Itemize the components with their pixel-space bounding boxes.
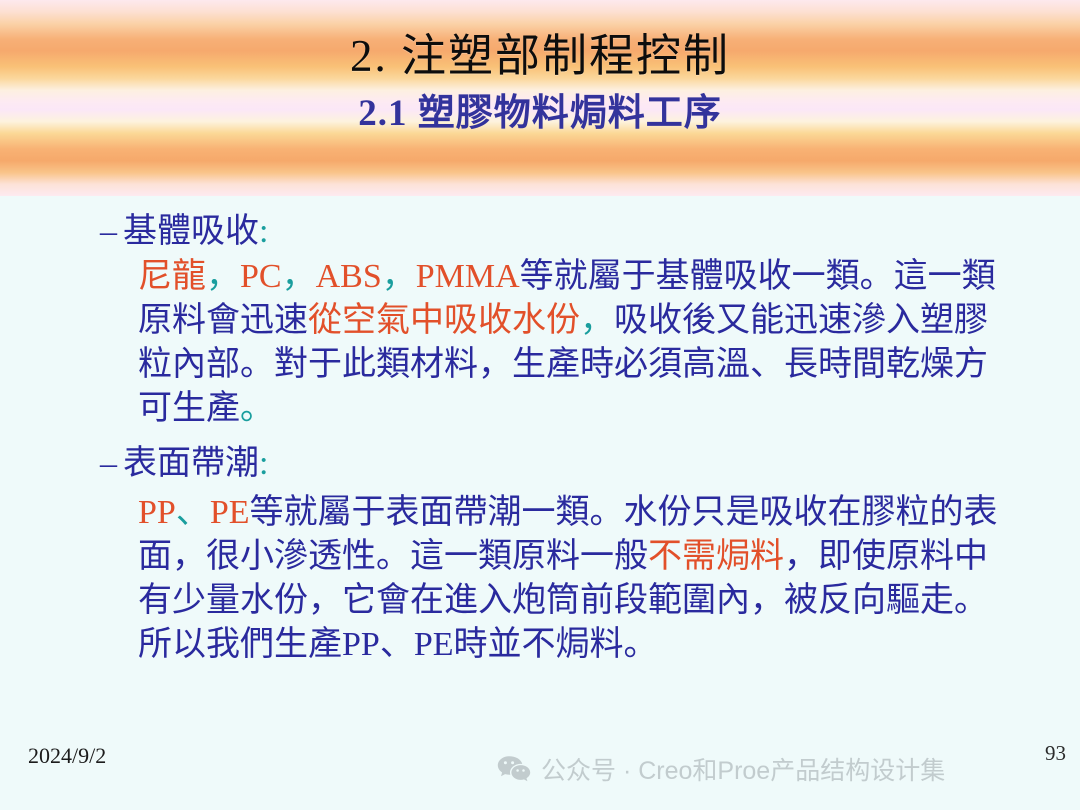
- bullet-group-matrix-absorption: –基體吸收: 尼龍，PC，ABS，PMMA等就屬于基體吸收一類。這一類原料會迅速…: [100, 210, 1020, 432]
- punctuation-mark: ，: [206, 258, 240, 295]
- punctuation-mark: 。: [240, 390, 274, 427]
- bullet-paragraph: 尼龍，PC，ABS，PMMA等就屬于基體吸收一類。這一類原料會迅速從空氣中吸收水…: [100, 255, 1020, 432]
- page-subtitle: 2.1 塑膠物料焗料工序: [0, 84, 1080, 136]
- bullet-heading-label: 基體吸收: [123, 213, 259, 250]
- punctuation-mark: ，: [282, 258, 316, 295]
- title-banner: 2. 注塑部制程控制 2.1 塑膠物料焗料工序: [0, 0, 1080, 196]
- highlighted-term: PE: [210, 494, 250, 531]
- title-block: 2. 注塑部制程控制 2.1 塑膠物料焗料工序: [0, 0, 1080, 137]
- highlighted-term: PP: [138, 494, 176, 531]
- bullet-heading: –基體吸收:: [100, 210, 1020, 255]
- wechat-icon: [497, 755, 531, 783]
- highlighted-term: 尼龍: [138, 258, 206, 295]
- highlighted-term: 從空氣中吸收水份: [308, 302, 580, 339]
- punctuation-mark: ，: [382, 258, 416, 295]
- highlighted-term: ABS: [316, 258, 382, 295]
- bullet-heading: –表面帶潮:: [100, 442, 1020, 487]
- bullet-dash-icon: –: [100, 442, 123, 487]
- footer-date: 2024/9/2: [28, 743, 106, 769]
- highlighted-term: 不需焗料: [648, 538, 784, 575]
- bullet-heading-colon: :: [259, 445, 268, 482]
- bullet-heading-label: 表面帶潮: [123, 445, 259, 482]
- slide-footer: 2024/9/2 公众号 · Creo和Proe产品结构设计集 93: [0, 741, 1080, 810]
- slide-content: –基體吸收: 尼龍，PC，ABS，PMMA等就屬于基體吸收一類。這一類原料會迅速…: [0, 196, 1080, 741]
- page-title: 2. 注塑部制程控制: [0, 0, 1080, 84]
- highlighted-term: PC: [240, 258, 282, 295]
- highlighted-term: PMMA: [416, 258, 520, 295]
- punctuation-mark: 、: [176, 494, 210, 531]
- page-number: 93: [1045, 741, 1066, 766]
- bullet-paragraph: PP、PE等就屬于表面帶潮一類。水份只是吸收在膠粒的表面，很小滲透性。這一類原料…: [100, 491, 1020, 668]
- bullet-heading-colon: :: [259, 213, 268, 250]
- bullet-group-surface-moisture: –表面帶潮: PP、PE等就屬于表面帶潮一類。水份只是吸收在膠粒的表面，很小滲透…: [100, 442, 1020, 668]
- bullet-dash-icon: –: [100, 210, 123, 255]
- punctuation-mark: ，: [580, 302, 614, 339]
- watermark-label: 公众号 · Creo和Proe产品结构设计集: [541, 751, 945, 787]
- watermark: 公众号 · Creo和Proe产品结构设计集: [497, 751, 945, 787]
